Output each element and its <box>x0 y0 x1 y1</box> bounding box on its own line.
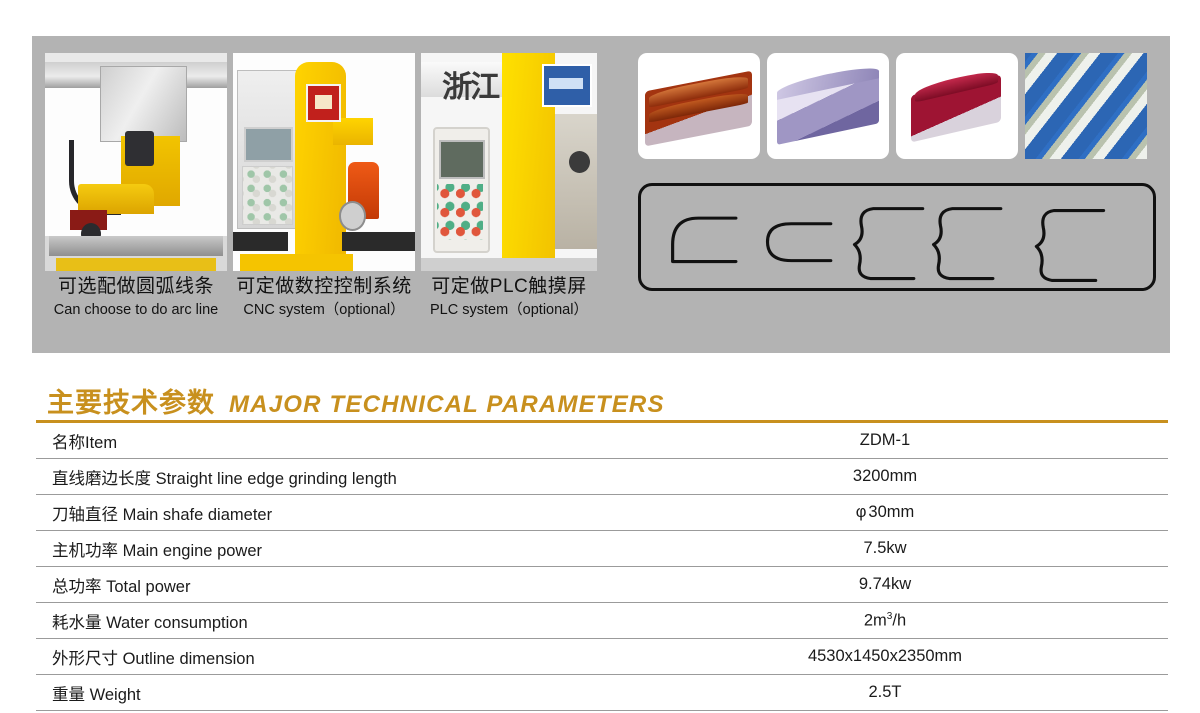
row-value: 7.5kw <box>602 531 1168 567</box>
caption-en: PLC system（optional） <box>421 300 597 321</box>
table-row: 刀轴直径 Main shafe diameter φ30mm <box>36 495 1168 531</box>
section-title-cn: 主要技术参数 <box>47 381 215 420</box>
caption-en: CNC system（optional） <box>233 300 415 321</box>
row-label: 外形尺寸 Outline dimension <box>36 639 602 675</box>
row-value: 2.5T <box>602 675 1168 711</box>
arc-line-grinding-head-photo <box>45 53 227 271</box>
caption-arc-line: 可选配做圆弧线条 Can choose to do arc line <box>45 274 227 321</box>
row-label: 直线磨边长度 Straight line edge grinding lengt… <box>36 459 602 495</box>
product-sample-strip <box>638 53 1147 159</box>
row-label: 总功率 Total power <box>36 567 602 603</box>
machine-photo-strip: 浙江 <box>45 53 597 271</box>
row-label: 刀轴直径 Main shafe diameter <box>36 495 602 531</box>
gallery-panel: 浙江 可选配做圆弧线条 Can choose to do arc line 可定… <box>32 36 1170 353</box>
table-row: 名称Item ZDM-1 <box>36 423 1168 459</box>
red-brown-stone-molding-photo <box>638 53 760 159</box>
edge-profile-diagram <box>638 183 1156 291</box>
purple-white-marble-molding-photo <box>767 53 889 159</box>
manufacturer-logo <box>306 84 341 123</box>
caption-cn: 可定做数控控制系统 <box>233 274 415 300</box>
table-body: 名称Item ZDM-1 直线磨边长度 Straight line edge g… <box>36 420 1168 711</box>
table-row: 主机功率 Main engine power 7.5kw <box>36 531 1168 567</box>
caption-en: Can choose to do arc line <box>45 300 227 321</box>
table-row: 总功率 Total power 9.74kw <box>36 567 1168 603</box>
crimson-stone-molding-photo <box>896 53 1018 159</box>
row-value: 3200mm <box>602 459 1168 495</box>
stone-strips-array-photo <box>1025 53 1147 159</box>
section-title: 主要技术参数 MAJOR TECHNICAL PARAMETERS <box>47 381 665 420</box>
row-value: φ30mm <box>602 495 1168 531</box>
caption-cn: 可定做PLC触摸屏 <box>421 274 597 300</box>
caption-cn: 可选配做圆弧线条 <box>45 274 227 300</box>
plc-touch-panel-photo: 浙江 <box>421 53 597 271</box>
caption-cnc-system: 可定做数控控制系统 CNC system（optional） <box>233 274 415 321</box>
row-value: 2m3/h <box>602 603 1168 639</box>
table-row: 重量 Weight 2.5T <box>36 675 1168 711</box>
machine-photo-captions: 可选配做圆弧线条 Can choose to do arc line 可定做数控… <box>45 274 597 321</box>
table-row: 直线磨边长度 Straight line edge grinding lengt… <box>36 459 1168 495</box>
row-label: 主机功率 Main engine power <box>36 531 602 567</box>
section-title-en: MAJOR TECHNICAL PARAMETERS <box>229 391 665 419</box>
row-value: 9.74kw <box>602 567 1168 603</box>
caption-plc-system: 可定做PLC触摸屏 PLC system（optional） <box>421 274 597 321</box>
edge-profile-shapes <box>641 186 1153 288</box>
technical-parameters-table: 名称Item ZDM-1 直线磨边长度 Straight line edge g… <box>36 420 1168 711</box>
cnc-control-column-photo <box>233 53 415 271</box>
table-row: 耗水量 Water consumption 2m3/h <box>36 603 1168 639</box>
row-label: 耗水量 Water consumption <box>36 603 602 639</box>
machine-brand-text: 浙江 <box>442 62 498 106</box>
table-row: 外形尺寸 Outline dimension 4530x1450x2350mm <box>36 639 1168 675</box>
row-value: 4530x1450x2350mm <box>602 639 1168 675</box>
row-label: 名称Item <box>36 423 602 459</box>
row-label: 重量 Weight <box>36 675 602 711</box>
row-value: ZDM-1 <box>602 423 1168 459</box>
